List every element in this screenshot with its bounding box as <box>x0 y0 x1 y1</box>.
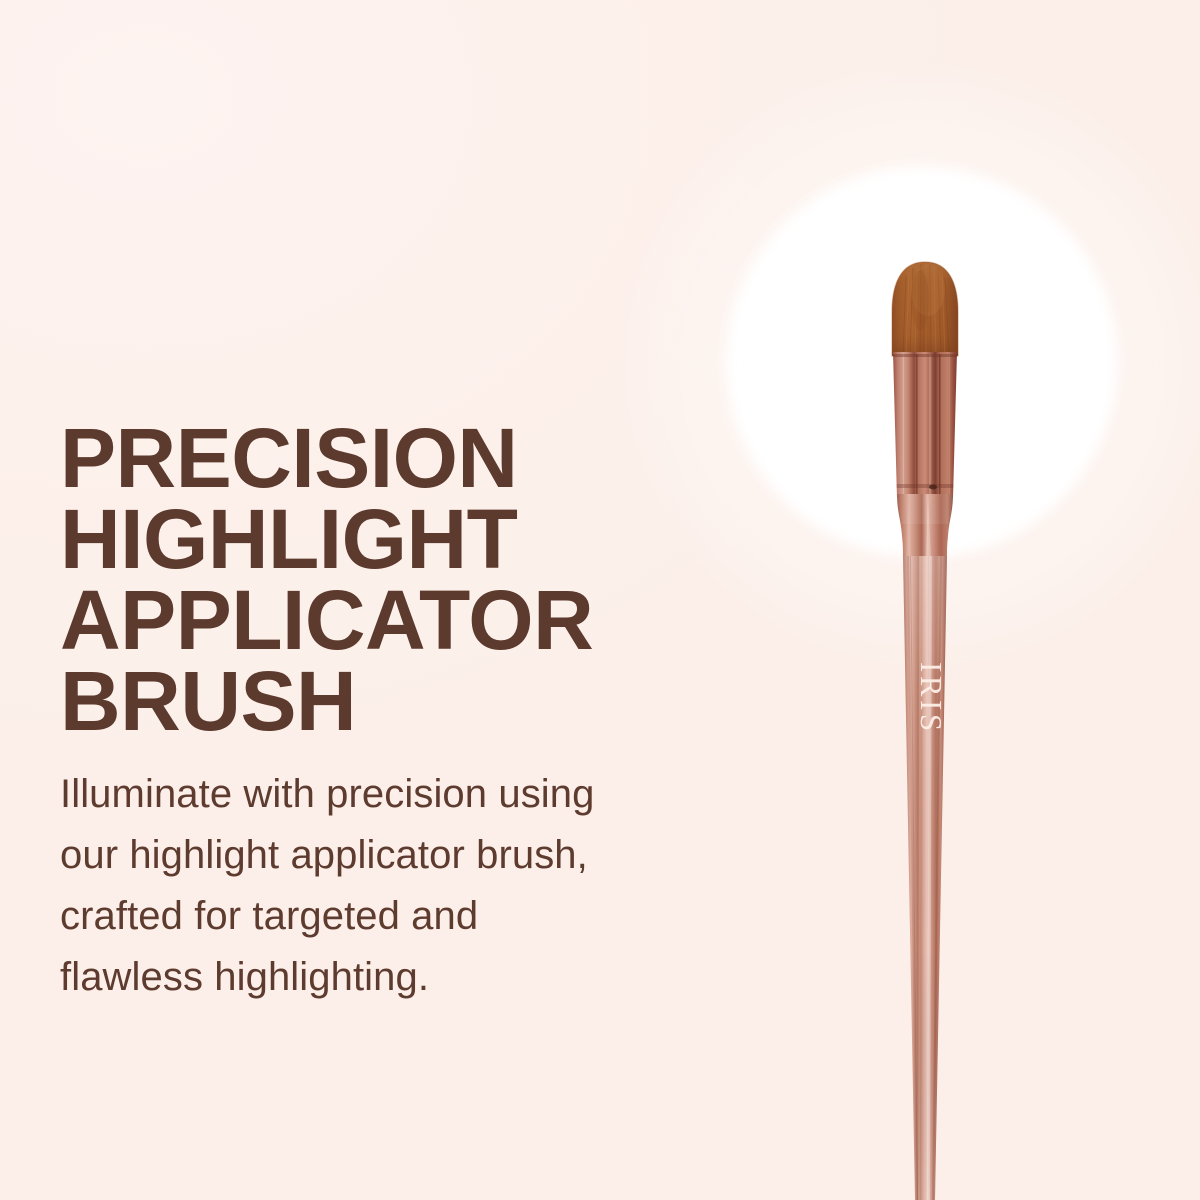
description-line-3: crafted for targeted and <box>60 886 760 947</box>
product-description: Illuminate with precision using our high… <box>60 764 760 1007</box>
description-line-4: flawless highlighting. <box>60 947 760 1008</box>
headline-line-1: PRECISION <box>60 418 790 499</box>
headline-line-4: BRUSH <box>60 661 790 742</box>
description-line-1: Illuminate with precision using <box>60 764 760 825</box>
headline-line-2: HIGHLIGHT <box>60 499 790 580</box>
description-line-2: our highlight applicator brush, <box>60 825 760 886</box>
page-title: PRECISION HIGHLIGHT APPLICATOR BRUSH <box>60 418 790 742</box>
product-poster: IRIS PRECISION HIGHLIGHT APPLICATOR BRUS… <box>0 0 1200 1200</box>
copy-block: PRECISION HIGHLIGHT APPLICATOR BRUSH Ill… <box>60 418 790 1007</box>
headline-line-3: APPLICATOR <box>60 580 790 661</box>
brand-mark-iris: IRIS <box>914 662 949 735</box>
